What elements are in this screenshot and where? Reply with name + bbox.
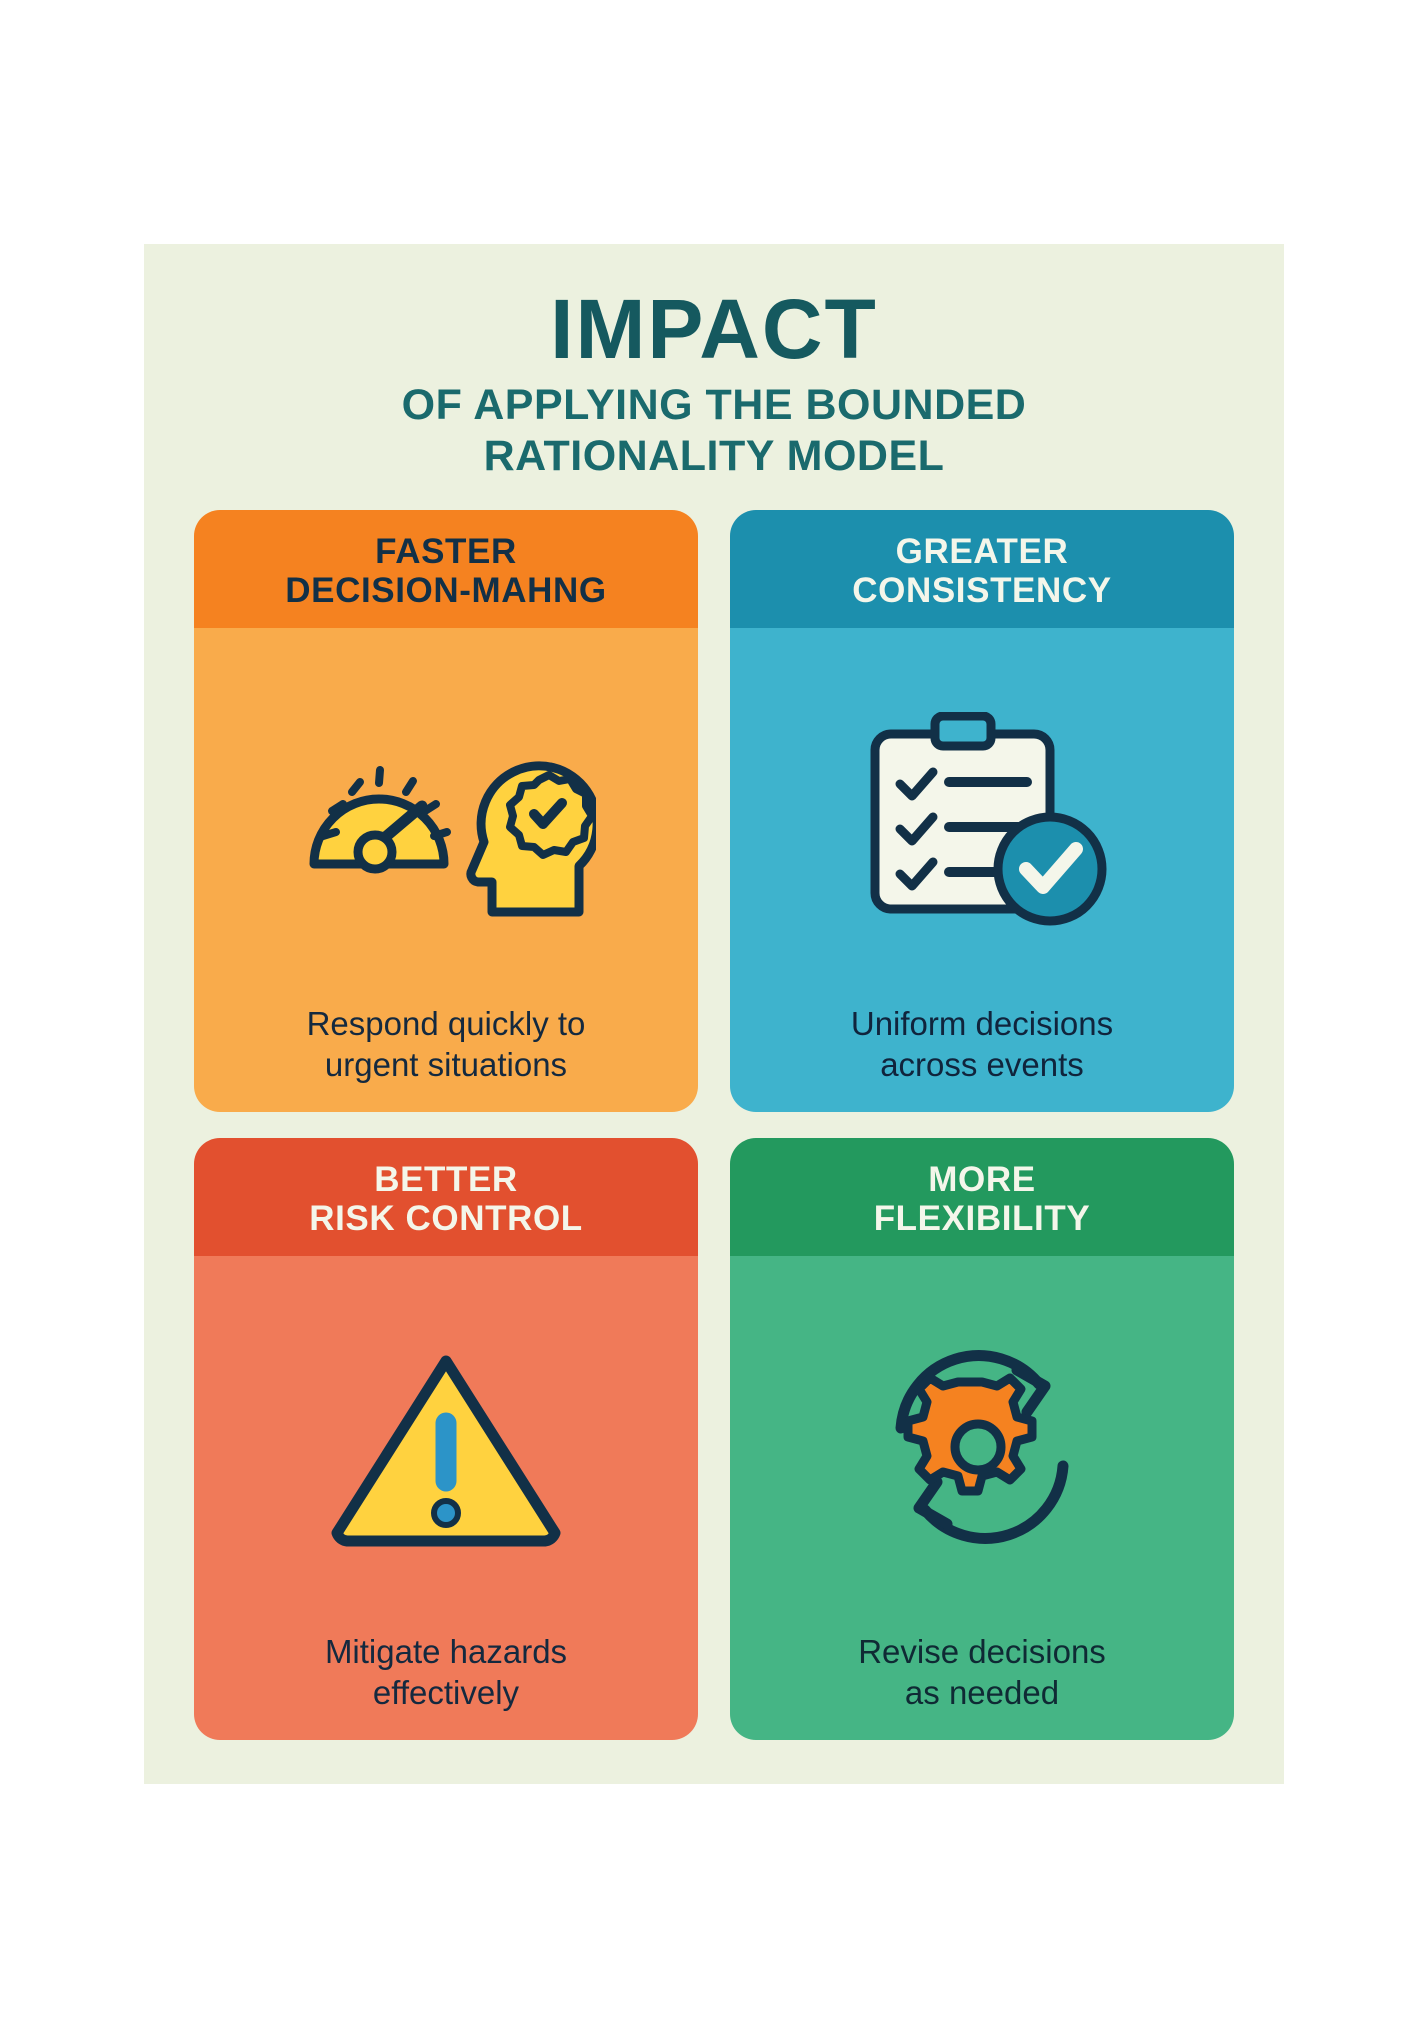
subtitle-line-1: OF APPLYING THE BOUNDED	[194, 380, 1234, 431]
card-heading-line-1: MORE	[746, 1160, 1218, 1199]
card-heading: FASTER DECISION-MAHNG	[194, 510, 698, 628]
icon-container	[212, 634, 680, 1004]
card-caption: Uniform decisions across events	[851, 1004, 1113, 1086]
warning-triangle-icon	[321, 1345, 571, 1550]
card-caption-line-1: Respond quickly to	[307, 1004, 586, 1045]
impact-card-more-flexibility[interactable]: MORE FLEXIBILITY	[730, 1138, 1234, 1740]
infographic-poster: IMPACT OF APPLYING THE BOUNDED RATIONALI…	[144, 244, 1284, 1784]
card-heading-line-1: BETTER	[210, 1160, 682, 1199]
card-caption-line-2: effectively	[325, 1673, 567, 1714]
card-caption-line-2: as needed	[858, 1673, 1106, 1714]
card-caption: Revise decisions as needed	[858, 1632, 1106, 1714]
card-caption-line-1: Revise decisions	[858, 1632, 1106, 1673]
card-caption-line-1: Uniform decisions	[851, 1004, 1113, 1045]
speedometer-brain-icon	[296, 714, 596, 924]
card-heading-line-1: FASTER	[210, 532, 682, 571]
card-caption-line-2: urgent situations	[307, 1045, 586, 1086]
impact-card-grid: FASTER DECISION-MAHNG	[194, 510, 1234, 1740]
card-body: Respond quickly to urgent situations	[194, 628, 698, 1112]
card-heading-line-2: DECISION-MAHNG	[210, 571, 682, 610]
card-heading: GREATER CONSISTENCY	[730, 510, 1234, 628]
card-caption: Mitigate hazards effectively	[325, 1632, 567, 1714]
card-caption-line-1: Mitigate hazards	[325, 1632, 567, 1673]
page-title: IMPACT	[194, 288, 1234, 370]
card-body: Revise decisions as needed	[730, 1256, 1234, 1740]
card-heading: BETTER RISK CONTROL	[194, 1138, 698, 1256]
subtitle-line-2: RATIONALITY MODEL	[194, 431, 1234, 482]
checklist-clipboard-icon	[837, 712, 1127, 927]
impact-card-greater-consistency[interactable]: GREATER CONSISTENCY	[730, 510, 1234, 1112]
icon-container	[212, 1262, 680, 1632]
card-caption-line-2: across events	[851, 1045, 1113, 1086]
card-caption: Respond quickly to urgent situations	[307, 1004, 586, 1086]
card-heading-line-1: GREATER	[746, 532, 1218, 571]
icon-container	[748, 634, 1216, 1004]
card-body: Mitigate hazards effectively	[194, 1256, 698, 1740]
page-subtitle: OF APPLYING THE BOUNDED RATIONALITY MODE…	[194, 380, 1234, 481]
poster-header: IMPACT OF APPLYING THE BOUNDED RATIONALI…	[194, 280, 1234, 482]
impact-card-faster-decision-making[interactable]: FASTER DECISION-MAHNG	[194, 510, 698, 1112]
card-body: Uniform decisions across events	[730, 628, 1234, 1112]
icon-container	[748, 1262, 1216, 1632]
impact-card-better-risk-control[interactable]: BETTER RISK CONTROL Mitigate hazards eff…	[194, 1138, 698, 1740]
card-heading-line-2: FLEXIBILITY	[746, 1199, 1218, 1238]
card-heading-line-2: CONSISTENCY	[746, 571, 1218, 610]
card-heading: MORE FLEXIBILITY	[730, 1138, 1234, 1256]
poster-canvas: IMPACT OF APPLYING THE BOUNDED RATIONALI…	[0, 0, 1428, 2028]
gear-refresh-icon	[857, 1342, 1107, 1552]
card-heading-line-2: RISK CONTROL	[210, 1199, 682, 1238]
